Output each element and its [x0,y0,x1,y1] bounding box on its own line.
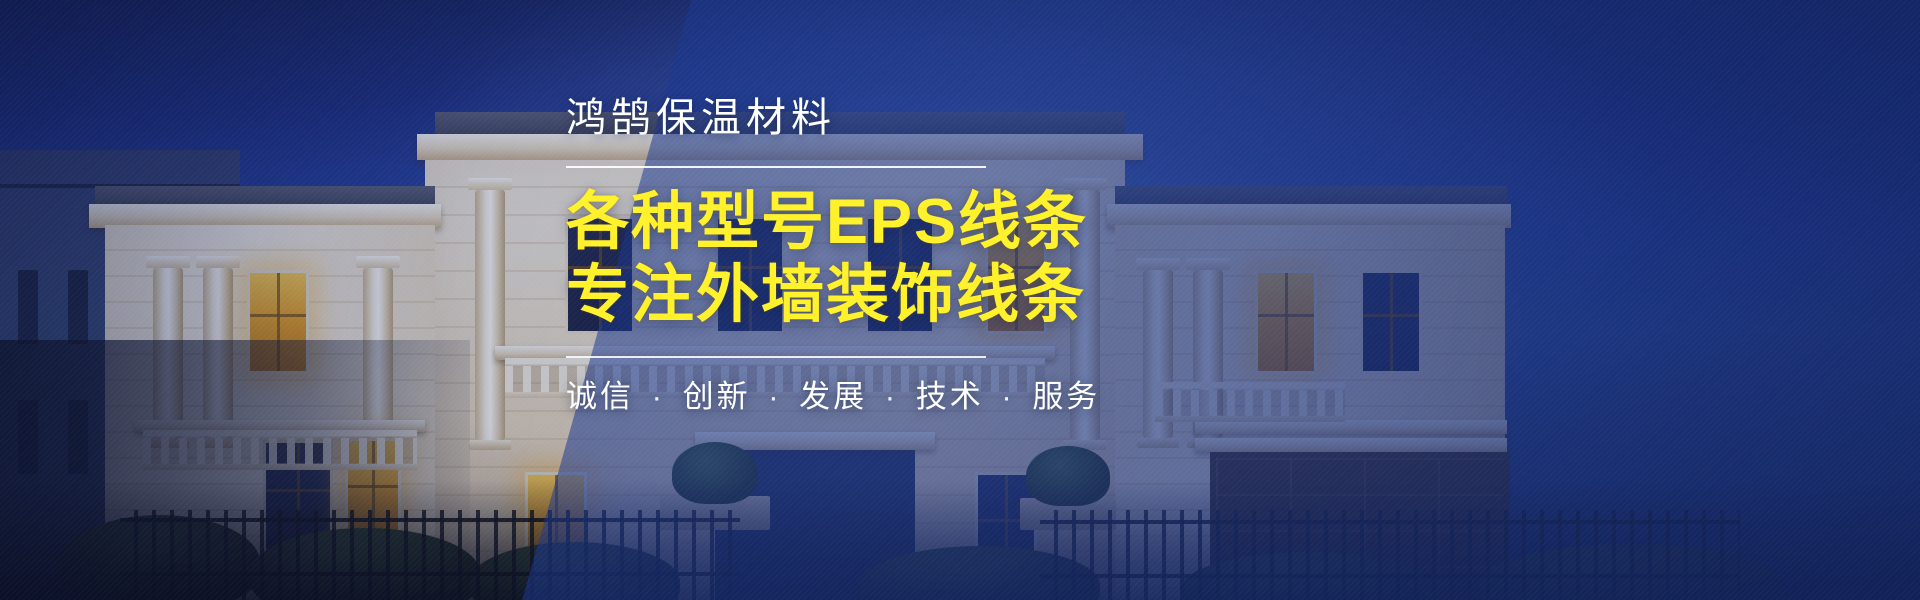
tagline-item-4: 技术 [916,379,984,414]
tagline-separator: · [995,379,1020,414]
tagline-separator: · [646,379,671,414]
tagline-separator: · [762,379,787,414]
tagline-separator: · [879,379,904,414]
headline-line-1: 各种型号EPS线条 [566,186,1206,259]
brand-name: 鸿鹄保温材料 [566,96,1206,140]
divider-top [566,166,986,168]
banner-content: 鸿鹄保温材料 各种型号EPS线条 专注外墙装饰线条 诚信 · 创新 · 发展 ·… [566,96,1206,415]
tagline: 诚信 · 创新 · 发展 · 技术 · 服务 [566,378,1206,415]
tagline-item-3: 发展 [799,379,867,414]
promo-banner: 鸿鹄保温材料 各种型号EPS线条 专注外墙装饰线条 诚信 · 创新 · 发展 ·… [0,0,1920,600]
headline-line-2: 专注外墙装饰线条 [566,259,1206,332]
tagline-item-2: 创新 [683,379,751,414]
tagline-item-1: 诚信 [566,379,634,414]
divider-bottom [566,356,986,358]
tagline-item-5: 服务 [1032,379,1100,414]
